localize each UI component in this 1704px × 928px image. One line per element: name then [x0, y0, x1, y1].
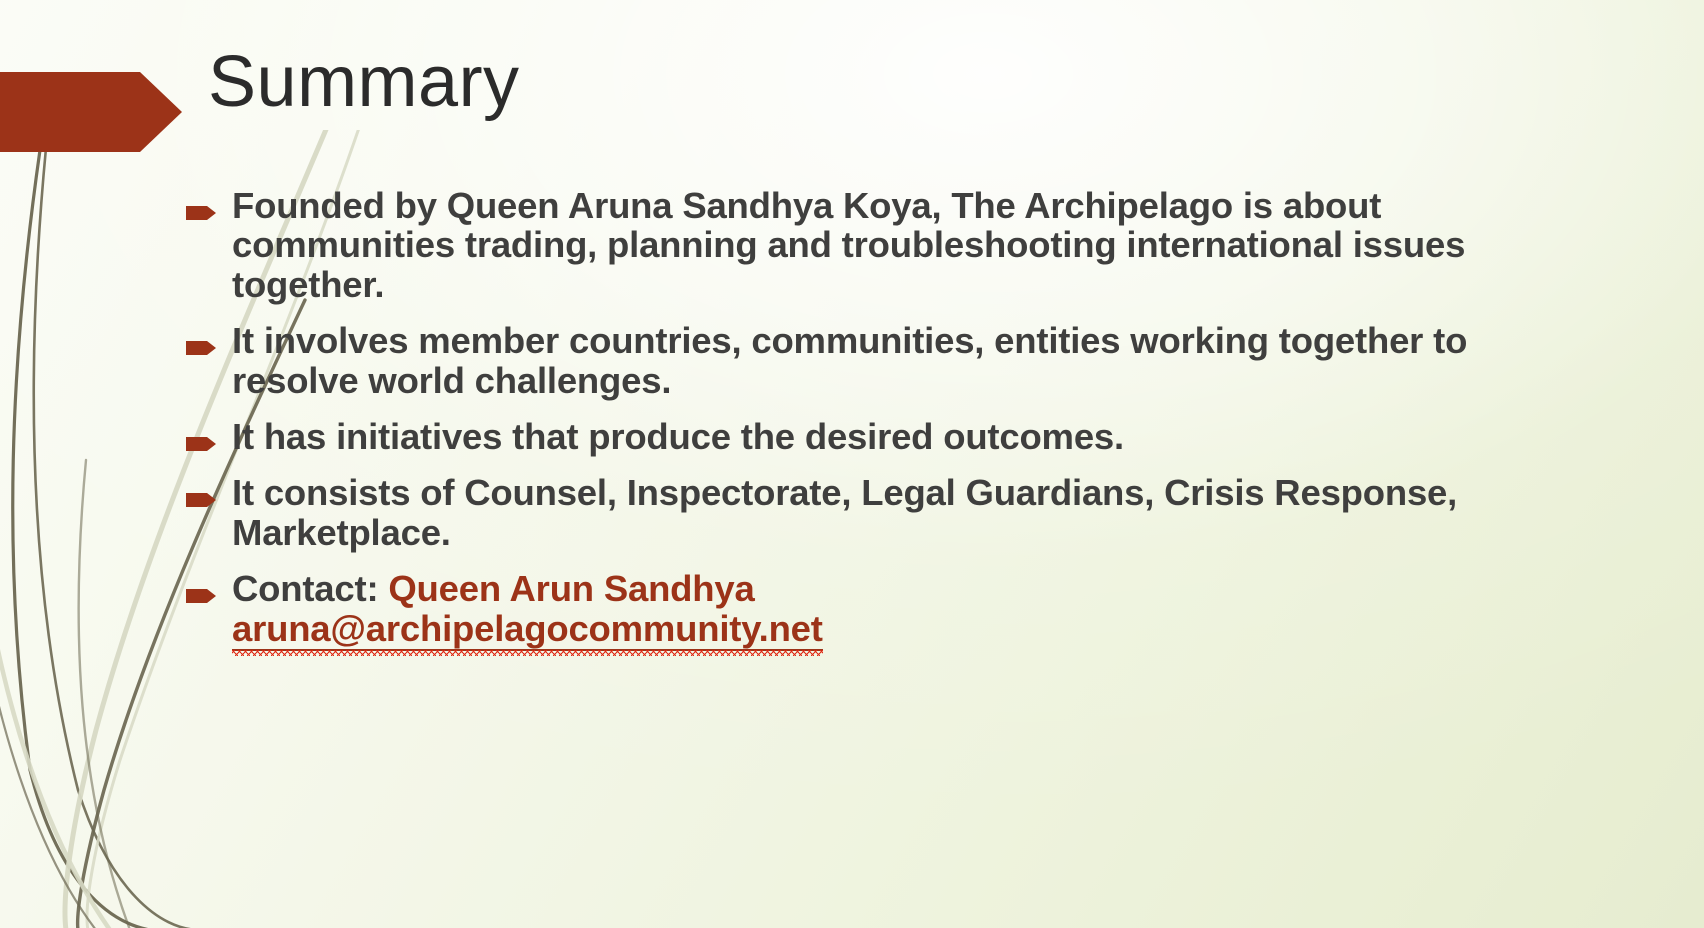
list-item-contact: Contact: Queen Arun Sandhya aruna@archip… — [186, 569, 1506, 651]
title-arrow-shape — [0, 72, 182, 152]
list-item: It consists of Counsel, Inspectorate, Le… — [186, 473, 1506, 552]
slide-body: Founded by Queen Aruna Sandhya Koya, The… — [186, 186, 1506, 668]
bullet-text-initiatives: It has initiatives that produce the desi… — [232, 417, 1506, 456]
page-title: Summary — [208, 46, 520, 118]
bullet-text-consists: It consists of Counsel, Inspectorate, Le… — [232, 473, 1506, 552]
list-item: It has initiatives that produce the desi… — [186, 417, 1506, 456]
list-item: Founded by Queen Aruna Sandhya Koya, The… — [186, 186, 1506, 304]
contact-name: Queen Arun Sandhya — [388, 568, 754, 609]
bullet-text-founded: Founded by Queen Aruna Sandhya Koya, The… — [232, 186, 1506, 304]
contact-block: Contact: Queen Arun Sandhya aruna@archip… — [232, 569, 1506, 651]
bullet-text-involves: It involves member countries, communitie… — [232, 321, 1506, 400]
arrow-bullet-icon — [186, 339, 216, 357]
arrow-bullet-icon — [186, 204, 216, 222]
contact-email-link[interactable]: aruna@archipelagocommunity.net — [232, 609, 823, 651]
list-item: It involves member countries, communitie… — [186, 321, 1506, 400]
presentation-slide: Summary Founded by Queen Aruna Sandhya K… — [0, 0, 1704, 928]
arrow-bullet-icon — [186, 491, 216, 509]
contact-label: Contact: — [232, 568, 388, 609]
arrow-bullet-icon — [186, 435, 216, 453]
arrow-bullet-icon — [186, 587, 216, 605]
